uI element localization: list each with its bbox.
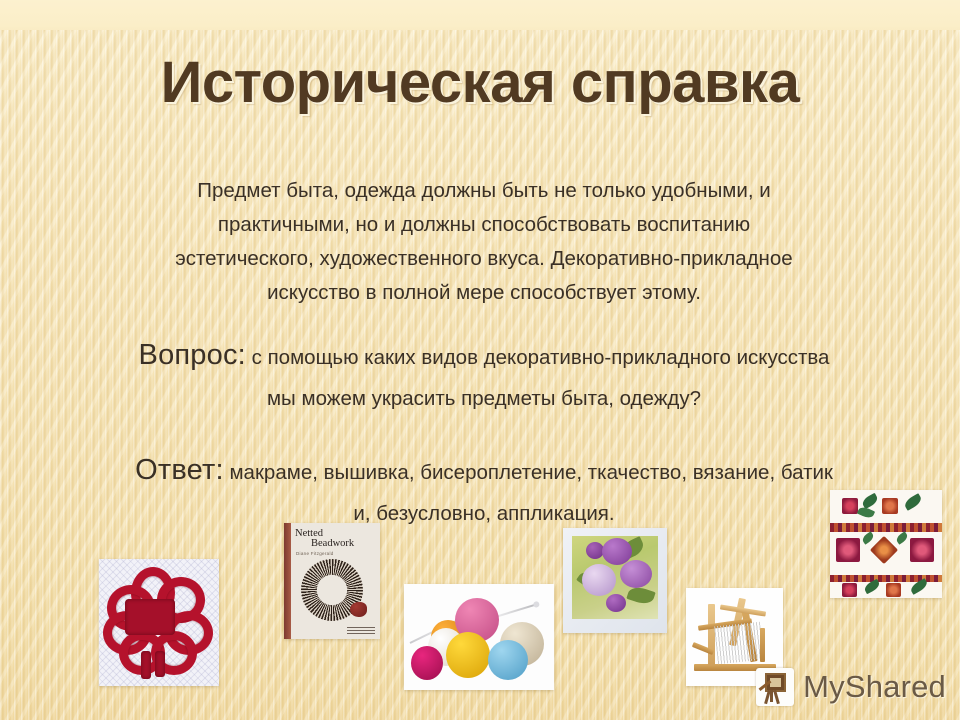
loom-upright <box>708 604 715 666</box>
myshared-watermark: MyShared <box>756 668 946 706</box>
easel-leg <box>770 690 773 702</box>
embroidery-center-row <box>830 534 942 574</box>
loom-warp-threads <box>714 622 764 665</box>
page-title: Историческая справка <box>0 49 960 116</box>
watermark-text: MyShared <box>803 669 946 705</box>
flower-bud <box>606 594 626 612</box>
question-block: Вопрос: с помощью каких видов декоративн… <box>128 335 840 419</box>
batik-artwork <box>572 536 658 619</box>
question-label: Вопрос: <box>139 339 246 371</box>
book-title: Netted Beadwork <box>295 528 377 549</box>
intro-paragraph: Предмет быта, одежда должны быть не толь… <box>148 174 820 310</box>
embroidery-band <box>830 523 942 532</box>
bead-cluster <box>350 602 367 617</box>
answer-block: Ответ: макраме, вышивка, бисероплетение,… <box>128 450 840 534</box>
stitched-medallion <box>870 536 898 564</box>
stitched-leaf <box>903 493 924 511</box>
flower-large <box>620 560 652 588</box>
leaf <box>626 584 655 606</box>
stitched-leaf <box>863 579 881 594</box>
book-spine <box>284 523 291 639</box>
easel-leg <box>773 690 780 704</box>
stitched-flower <box>842 498 858 514</box>
yarn-ball-magenta <box>411 646 443 680</box>
knot-center <box>125 599 175 635</box>
embroidery-top-row <box>830 496 942 520</box>
image-batik-flowers <box>563 528 667 633</box>
question-text: с помощью каких видов декоративно-прикла… <box>252 346 830 410</box>
stitched-leaf <box>895 531 909 544</box>
stitched-medallion <box>910 538 934 562</box>
yarn-ball-blue <box>488 640 528 680</box>
stitched-medallion <box>836 538 860 562</box>
presentation-easel-icon <box>756 668 794 706</box>
presentation-slide: Историческая справка Предмет быта, одежд… <box>0 0 960 720</box>
book-footer-marks <box>347 627 375 635</box>
stitched-leaf <box>857 505 875 520</box>
answer-label: Ответ: <box>135 454 224 486</box>
stitched-flower <box>882 498 898 514</box>
loom-upright <box>760 628 765 662</box>
yarn-ball-yellow <box>446 632 490 678</box>
knot-tail <box>141 651 151 679</box>
image-macrame-knot <box>99 559 219 686</box>
flower-pale <box>582 564 616 596</box>
book-title-line2: Beadwork <box>311 538 377 549</box>
book-subtitle: Diane Fitzgerald <box>296 551 334 556</box>
stitched-leaf <box>861 531 875 544</box>
knot-tail <box>155 651 165 677</box>
image-cross-stitch-embroidery <box>830 490 942 598</box>
embroidery-bottom-row <box>830 582 942 598</box>
image-yarn-balls <box>404 584 554 690</box>
answer-text: макраме, вышивка, бисероплетение, ткачес… <box>229 461 832 525</box>
stitched-flower <box>842 583 857 597</box>
image-beadwork-book: Netted Beadwork Diane Fitzgerald <box>284 523 380 639</box>
stitched-flower <box>886 583 901 597</box>
yarn-background <box>404 584 554 690</box>
